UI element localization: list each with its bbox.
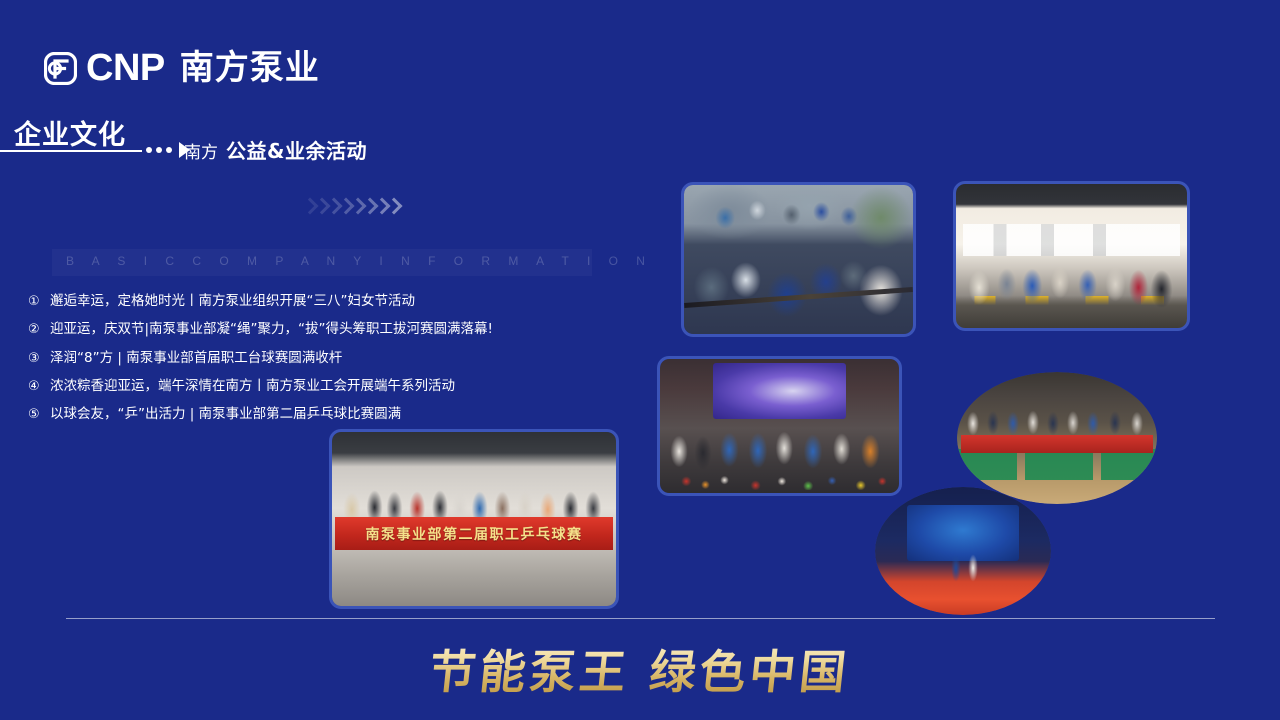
brand-short-label: 南方 — [184, 138, 218, 163]
list-item-label: 邂逅幸运，定格她时光丨南方泵业组织开展“三八”妇女节活动 — [50, 292, 415, 312]
list-item-number: ④ — [28, 378, 50, 397]
list-item: ② 迎亚运，庆双节|南泵事业部凝“绳”聚力，“拔”得头筹职工拔河赛圆满落幕! — [28, 320, 648, 340]
list-item: ④ 浓浓粽香迎亚运，端午深情在南方丨南方泵业工会开展端午系列活动 — [28, 377, 648, 397]
list-item-label: 迎亚运，庆双节|南泵事业部凝“绳”聚力，“拔”得头筹职工拔河赛圆满落幕! — [50, 320, 493, 340]
section-title: 企业文化 — [14, 113, 126, 152]
photo-banner-text: 南泵事业部第二届职工乒乓球赛 — [335, 517, 613, 550]
photo-award-ceremony — [875, 487, 1051, 615]
chevron-right-repeat-icon — [303, 198, 398, 220]
logo-chinese-text: 南方泵业 — [180, 51, 320, 85]
watermark-text: B A S I C C O M P A N Y I N F O R M A T … — [66, 254, 652, 268]
photo-billiards — [957, 372, 1157, 504]
section-title-underline — [0, 150, 142, 152]
logo-latin-text: CNP — [86, 49, 165, 87]
list-item-label: 浓浓粽香迎亚运，端午深情在南方丨南方泵业工会开展端午系列活动 — [50, 377, 455, 397]
activity-list: ① 邂逅幸运，定格她时光丨南方泵业组织开展“三八”妇女节活动 ② 迎亚运，庆双节… — [28, 292, 648, 434]
table-tennis-banner-label: 南泵事业部第二届职工乒乓球赛 — [365, 524, 582, 544]
list-item: ③ 泽润“8”方 | 南泵事业部首届职工台球赛圆满收杆 — [28, 349, 648, 369]
list-item-number: ⑤ — [28, 406, 50, 425]
photo-canteen — [953, 181, 1190, 331]
photo-tug-of-war — [681, 182, 916, 337]
list-item-number: ① — [28, 293, 50, 312]
company-logo: CNP 南方泵业 — [44, 49, 320, 87]
slide-root: CNP 南方泵业 企业文化 南方 公益&业余活动 B A S I C C O M… — [0, 0, 1280, 720]
section-subtitle: 公益&业余活动 — [226, 135, 367, 164]
list-item: ① 邂逅幸运，定格她时光丨南方泵业组织开展“三八”妇女节活动 — [28, 292, 648, 312]
list-item-number: ③ — [28, 350, 50, 369]
cnp-emblem-icon — [44, 52, 77, 85]
list-item-number: ② — [28, 321, 50, 340]
footer-slogan: 节能泵王 绿色中国 — [0, 636, 1280, 702]
list-item-label: 泽润“8”方 | 南泵事业部首届职工台球赛圆满收杆 — [50, 349, 342, 369]
photo-table-tennis: 南泵事业部第二届职工乒乓球赛 — [329, 429, 619, 609]
photo-event-hall — [657, 356, 902, 496]
footer-divider — [66, 618, 1215, 619]
list-item: ⑤ 以球会友，“乒”出活力 | 南泵事业部第二届乒乓球比赛圆满 — [28, 405, 648, 425]
list-item-label: 以球会友，“乒”出活力 | 南泵事业部第二届乒乓球比赛圆满 — [50, 405, 401, 425]
